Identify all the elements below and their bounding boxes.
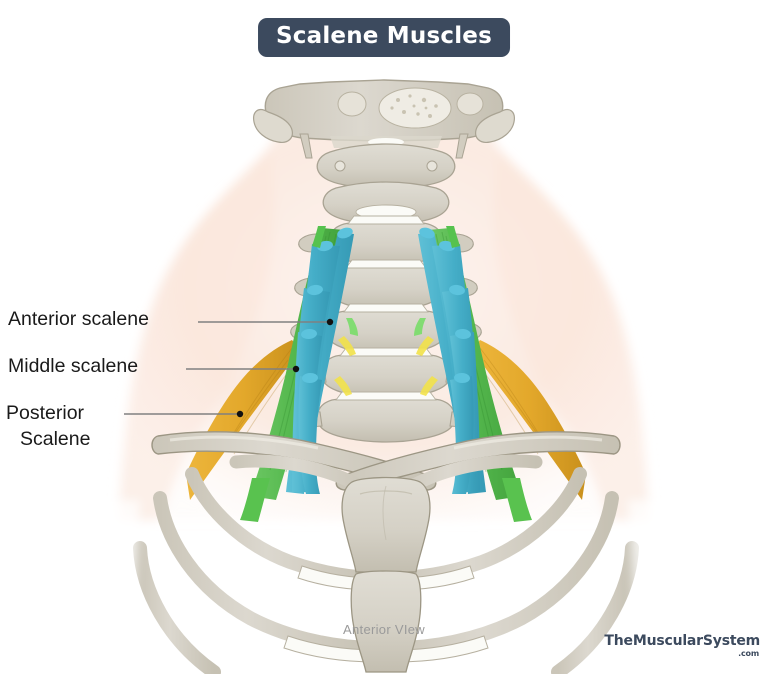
illustration-canvas: Scalene Muscles Anterior scalene Middle …: [0, 0, 768, 674]
page-title: Scalene Muscles: [258, 18, 510, 57]
label-posterior-scalene: Posterior Scalene: [6, 400, 90, 452]
label-posterior-line1: Posterior: [6, 402, 84, 424]
anatomy-illustration: [0, 0, 768, 674]
leader-dot-middle: [293, 366, 299, 372]
watermark-name: TheMuscularSystem: [604, 633, 760, 649]
leader-dot-anterior: [327, 319, 333, 325]
label-posterior-line2: Scalene: [6, 426, 90, 452]
leader-dot-posterior: [237, 411, 243, 417]
label-middle-scalene: Middle scalene: [8, 355, 138, 378]
watermark: TheMuscularSystem .com: [604, 634, 760, 658]
label-anterior-scalene: Anterior scalene: [8, 308, 149, 331]
watermark-tld: .com: [604, 649, 760, 658]
